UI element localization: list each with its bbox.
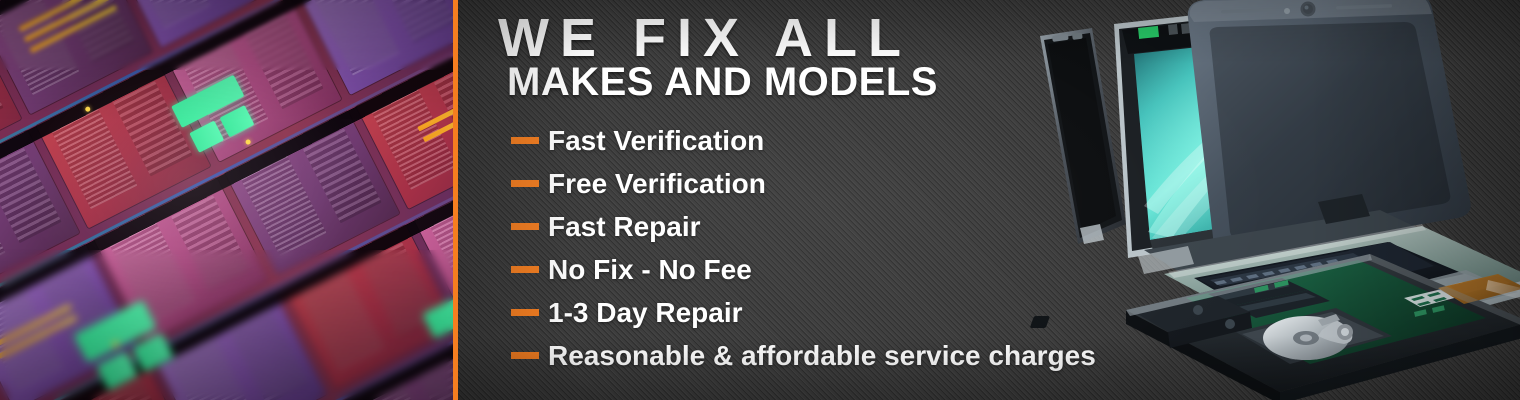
we-fix-all-banner: WE FIX ALL MAKES AND MODELS Fast Verific…: [0, 0, 1520, 400]
dash-bullet-icon: [511, 180, 539, 187]
dash-bullet-icon: [511, 137, 539, 144]
subheadline: MAKES AND MODELS: [507, 62, 938, 102]
silicon-wafer-photo: [0, 0, 453, 400]
dash-bullet-icon: [511, 223, 539, 230]
content-panel: WE FIX ALL MAKES AND MODELS Fast Verific…: [458, 0, 1520, 400]
feature-label: Free Verification: [548, 169, 766, 199]
feature-label: Fast Verification: [548, 126, 764, 156]
headline: WE FIX ALL: [498, 11, 912, 65]
dash-bullet-icon: [511, 266, 539, 273]
feature-list: Fast Verification Free Verification Fast…: [511, 119, 1096, 377]
feature-label: 1-3 Day Repair: [548, 298, 743, 328]
list-item: Fast Repair: [511, 205, 1096, 248]
dash-bullet-icon: [511, 309, 539, 316]
feature-label: Reasonable & affordable service charges: [548, 341, 1096, 371]
list-item: Free Verification: [511, 162, 1096, 205]
wafer-die-grid: [0, 0, 453, 400]
feature-label: No Fix - No Fee: [548, 255, 752, 285]
list-item: 1-3 Day Repair: [511, 291, 1096, 334]
detached-lid-back: [1040, 28, 1126, 244]
list-item: Fast Verification: [511, 119, 1096, 162]
dash-bullet-icon: [511, 352, 539, 359]
list-item: No Fix - No Fee: [511, 248, 1096, 291]
wafer-scribe-lines: [0, 0, 453, 400]
list-item: Reasonable & affordable service charges: [511, 334, 1096, 377]
exploded-laptop-illustration: [1018, 0, 1520, 400]
feature-label: Fast Repair: [548, 212, 701, 242]
